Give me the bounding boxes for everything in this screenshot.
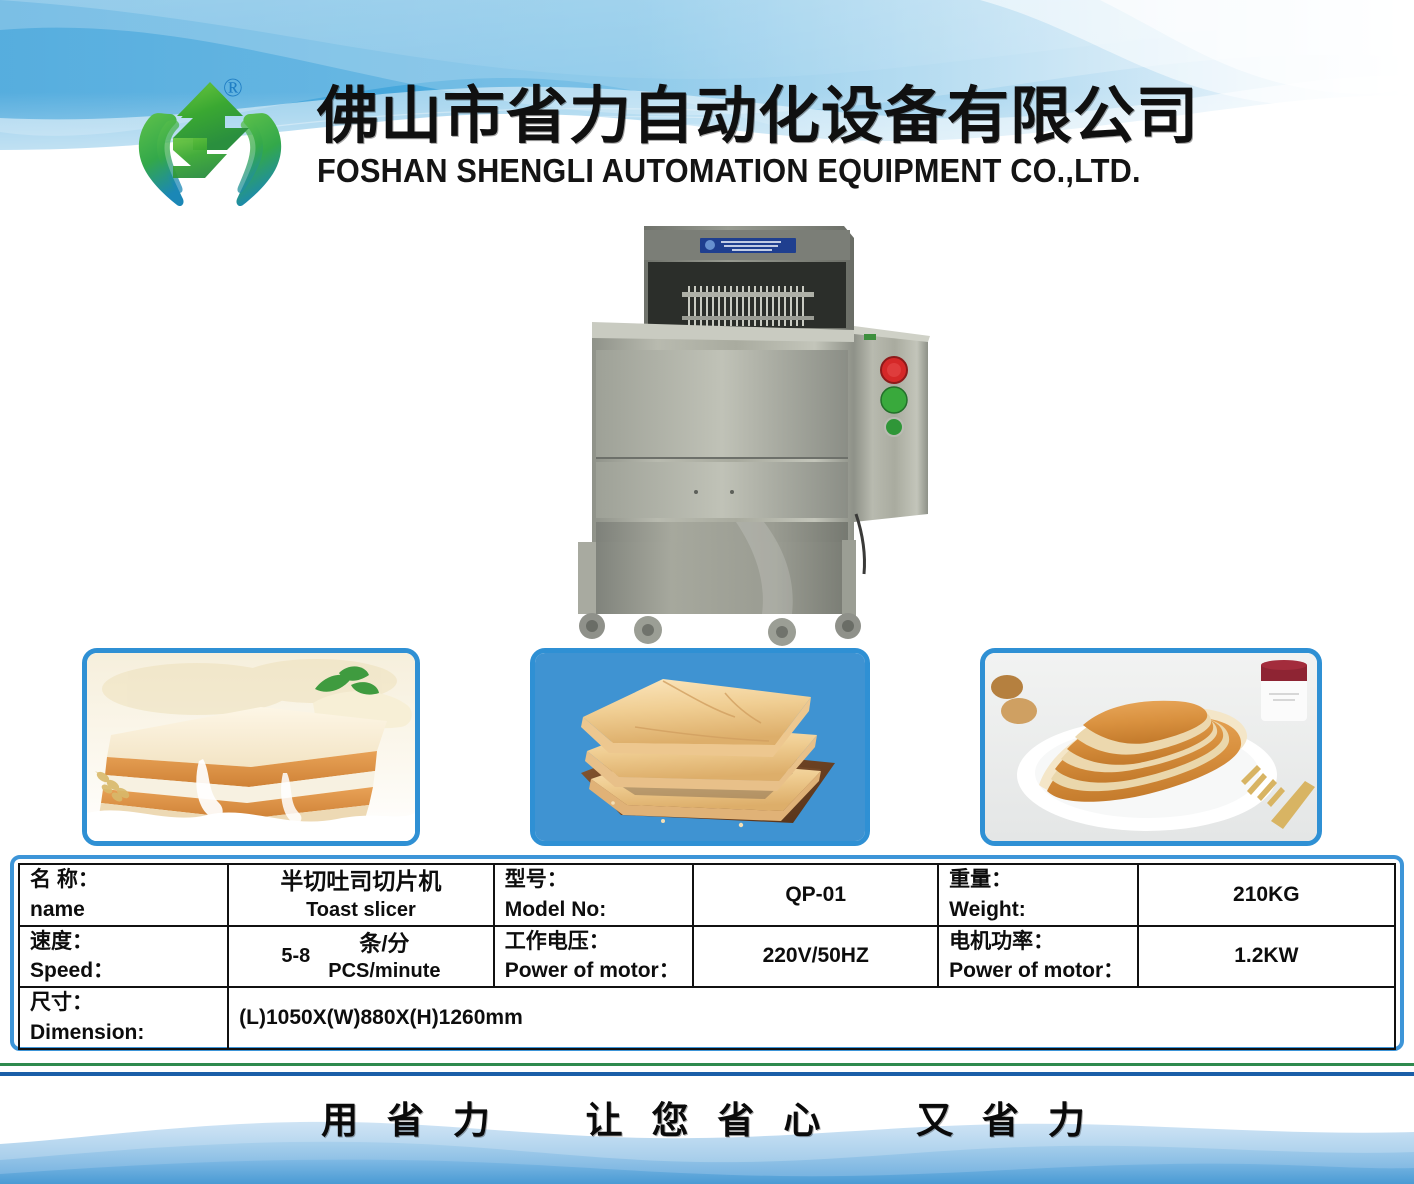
label-cn: 工作电压： [505, 927, 683, 957]
company-logo: ® [115, 62, 305, 212]
company-slogan: 用 省 力 让 您 省 心 又 省 力 [0, 1090, 1414, 1144]
product-spec-sheet: ® 佛山市省力自动化设备有限公司 FOSHAN SHENGLI AUTOMATI… [0, 0, 1414, 1184]
cell-weight-value: 210KG [1138, 864, 1395, 926]
label-en: Power of motor： [505, 956, 683, 986]
cell-voltage-value: 220V/50HZ [693, 926, 938, 988]
start-button [881, 387, 907, 413]
company-name-block: 佛山市省力自动化设备有限公司 FOSHAN SHENGLI AUTOMATION… [317, 84, 1203, 189]
label-en: Model No: [505, 895, 683, 925]
label-cn: 名 称： [30, 865, 217, 895]
divider-blue [0, 1072, 1414, 1076]
table-row: 名 称： name 半切吐司切片机 Toast slicer 型号： Model… [19, 864, 1395, 926]
cell-weight-label: 重量： Weight: [938, 864, 1138, 926]
slogan-part-1: 用 省 力 [321, 1090, 498, 1144]
table-row: 速度： Speed： 5-8 条/分 PCS/minute [19, 926, 1395, 988]
cell-motor-power-value: 1.2KW [1138, 926, 1395, 988]
cell-name-label: 名 称： name [19, 864, 228, 926]
specification-table: 名 称： name 半切吐司切片机 Toast slicer 型号： Model… [10, 855, 1404, 1051]
cell-speed-label: 速度： Speed： [19, 926, 228, 988]
speed-unit-cn: 条/分 [328, 929, 440, 958]
label-en: Speed： [30, 956, 217, 986]
value-cn: 半切吐司切片机 [239, 867, 483, 897]
label-cn: 重量： [949, 865, 1127, 895]
label-en: Dimension: [30, 1018, 217, 1048]
photo-sandwich-bread-milk [82, 648, 420, 846]
stop-button [885, 418, 903, 436]
registered-trademark-icon: ® [223, 75, 243, 101]
company-name-cn: 佛山市省力自动化设备有限公司 [317, 84, 1203, 147]
cell-model-value: QP-01 [693, 864, 938, 926]
machine-photo [556, 222, 966, 647]
photo-sliced-bread-plate [980, 648, 1322, 846]
cell-speed-value: 5-8 条/分 PCS/minute [228, 926, 494, 988]
cell-dimension-label: 尺寸： Dimension: [19, 987, 228, 1049]
label-en: Weight: [949, 895, 1127, 925]
slogan-part-3: 又 省 力 [916, 1090, 1093, 1144]
product-photo-row [0, 648, 1414, 850]
company-header: ® 佛山市省力自动化设备有限公司 FOSHAN SHENGLI AUTOMATI… [0, 62, 1414, 212]
slogan-part-2: 让 您 省 心 [586, 1090, 829, 1144]
label-cn: 型号： [505, 865, 683, 895]
cell-model-label: 型号： Model No: [494, 864, 694, 926]
table-row: 尺寸： Dimension: (L)1050X(W)880X(H)1260mm [19, 987, 1395, 1049]
label-cn: 尺寸： [30, 988, 217, 1018]
company-name-en: FOSHAN SHENGLI AUTOMATION EQUIPMENT CO.,… [317, 152, 1141, 190]
cell-name-value: 半切吐司切片机 Toast slicer [228, 864, 494, 926]
value-en: Toast slicer [239, 897, 483, 923]
photo-toast-slices-board [530, 648, 870, 846]
speed-unit-en: PCS/minute [328, 958, 440, 984]
speed-number: 5-8 [281, 945, 310, 968]
label-en: Power of motor： [949, 956, 1127, 986]
label-cn: 电机功率： [949, 927, 1127, 957]
cell-voltage-label: 工作电压： Power of motor： [494, 926, 694, 988]
label-cn: 速度： [30, 927, 217, 957]
cell-dimension-value: (L)1050X(W)880X(H)1260mm [228, 987, 1395, 1049]
label-en: name [30, 895, 217, 925]
divider-green [0, 1063, 1414, 1066]
cell-motor-power-label: 电机功率： Power of motor： [938, 926, 1138, 988]
